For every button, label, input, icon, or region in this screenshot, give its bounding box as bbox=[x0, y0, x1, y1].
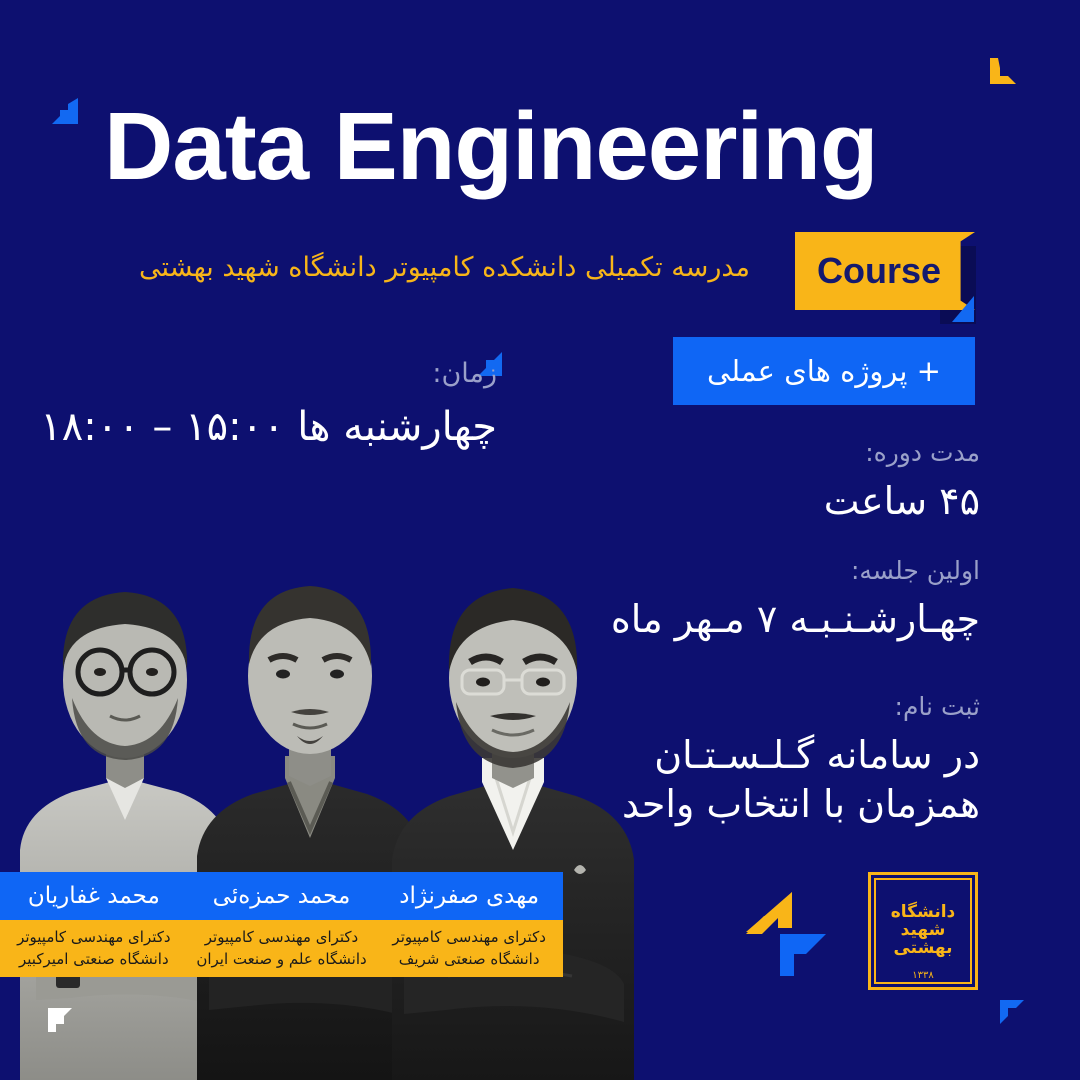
corner-step-bottom-right-icon bbox=[1000, 1000, 1024, 1024]
instructor-affiliation-cell-2: دکترای مهندسی کامپیوتر دانشگاه علم و صنع… bbox=[188, 920, 376, 977]
pinwheel-logo-icon bbox=[742, 888, 830, 980]
detail-registration-value-2: همزمان با انتخاب واحد bbox=[622, 780, 980, 829]
detail-first-session-label: اولین جلسه: bbox=[611, 556, 980, 585]
subtitle: مدرسه تکمیلی دانشکده کامپیوتر دانشگاه شه… bbox=[139, 252, 750, 283]
instructor-photo-group bbox=[0, 500, 660, 1080]
detail-first-session: اولین جلسه: چهـارشـنـبـه ۷ مـهر ماه bbox=[611, 556, 980, 644]
projects-badge: + پروژه های عملی bbox=[673, 337, 975, 405]
poster-canvas: Data Engineering مدرسه تکمیلی دانشکده کا… bbox=[0, 0, 1080, 1080]
page-title: Data Engineering bbox=[104, 92, 877, 202]
sbu-logo-line3: بهشتی bbox=[891, 940, 956, 958]
instructor-name-cell-2: محمد حمزه‌ئی bbox=[188, 872, 376, 920]
sbu-logo-year: ۱۳۳۸ bbox=[868, 970, 978, 981]
instructor-university-3: دانشگاه صنعتی امیرکبیر bbox=[19, 949, 169, 970]
instructor-university-1: دانشگاه صنعتی شریف bbox=[399, 949, 540, 970]
detail-registration-value: در سامانه گـلـسـتـان bbox=[622, 731, 980, 780]
detail-registration-label: ثبت نام: bbox=[622, 692, 980, 721]
corner-step-top-left-icon bbox=[52, 98, 78, 124]
instructor-affiliation-cell-1: دکترای مهندسی کامپیوتر دانشگاه صنعتی شری… bbox=[375, 920, 563, 977]
instructor-degree-3: دکترای مهندسی کامپیوتر bbox=[17, 927, 171, 948]
instructor-name-1: مهدی صفرنژاد bbox=[399, 883, 539, 909]
detail-registration: ثبت نام: در سامانه گـلـسـتـان همزمان با … bbox=[622, 692, 980, 828]
projects-badge-label: + پروژه های عملی bbox=[707, 354, 941, 388]
instructor-university-2: دانشگاه علم و صنعت ایران bbox=[196, 949, 366, 970]
instructor-affiliation-cell-3: دکترای مهندسی کامپیوتر دانشگاه صنعتی امی… bbox=[0, 920, 188, 977]
instructor-degree-1: دکترای مهندسی کامپیوتر bbox=[392, 927, 546, 948]
instructor-name-3: محمد غفاریان bbox=[28, 883, 160, 909]
detail-duration-value: ۴۵ ساعت bbox=[824, 477, 980, 526]
instructor-name-cell-3: محمد غفاریان bbox=[0, 872, 188, 920]
instructor-photo-1 bbox=[378, 520, 648, 1080]
course-badge-label: Course bbox=[817, 250, 941, 292]
instructor-name-2: محمد حمزه‌ئی bbox=[213, 883, 351, 909]
detail-duration: مدت دوره: ۴۵ ساعت bbox=[824, 438, 980, 526]
instructor-name-cell-1: مهدی صفرنژاد bbox=[375, 872, 563, 920]
corner-step-top-right-icon bbox=[990, 58, 1016, 84]
instructor-affiliation-bar: دکترای مهندسی کامپیوتر دانشگاه صنعتی شری… bbox=[0, 920, 563, 977]
time-label: زمان: bbox=[432, 358, 497, 389]
instructor-name-bar: مهدی صفرنژاد محمد حمزه‌ئی محمد غفاریان bbox=[0, 872, 563, 920]
detail-duration-label: مدت دوره: bbox=[824, 438, 980, 467]
instructor-degree-2: دکترای مهندسی کامپیوتر bbox=[205, 927, 359, 948]
course-badge: Course bbox=[795, 232, 975, 310]
sbu-logo-calligraphy: دانشگاه شهید بهشتی bbox=[878, 882, 968, 980]
detail-first-session-value: چهـارشـنـبـه ۷ مـهر ماه bbox=[611, 595, 980, 644]
sbu-logo: دانشگاه شهید بهشتی ۱۳۳۸ bbox=[868, 872, 978, 990]
corner-step-bottom-left-icon bbox=[48, 1008, 72, 1032]
time-value: چهارشنبه ها ۱۵:۰۰ – ۱۸:۰۰ bbox=[40, 404, 497, 450]
